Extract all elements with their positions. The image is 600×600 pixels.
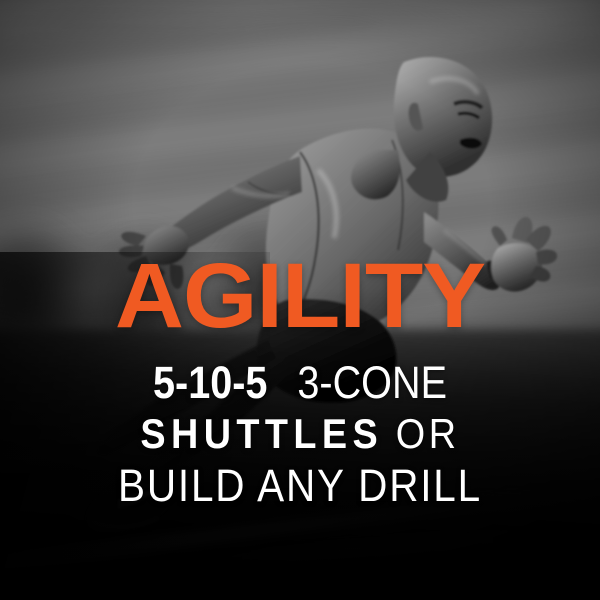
agility-poster: AGILITY 5-10-53-CONE SHUTTLESOR BUILD AN…	[0, 0, 600, 600]
background-photo	[0, 0, 600, 600]
sprinting-athlete	[0, 0, 600, 600]
